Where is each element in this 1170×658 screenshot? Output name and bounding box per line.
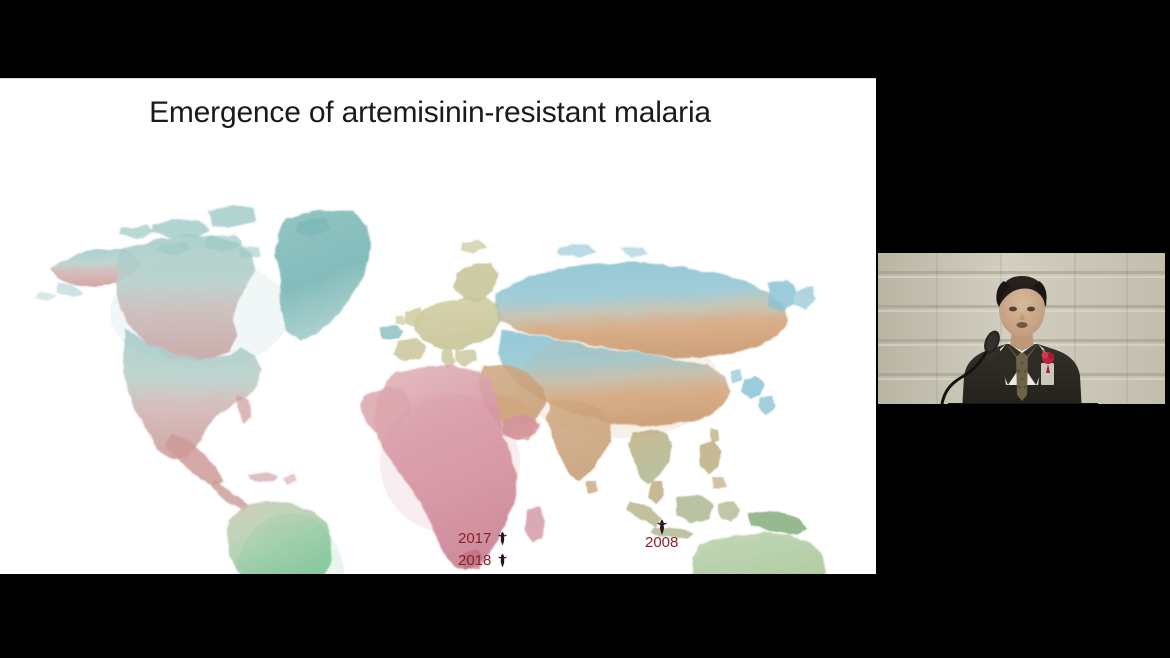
annotation-2017: 2017: [458, 531, 507, 546]
video-letterbox-bottom: [878, 404, 1165, 412]
mosquito-icon: [657, 519, 667, 535]
speaker-video-panel[interactable]: [878, 245, 1165, 412]
world-map-svg: [0, 133, 876, 574]
annotation-2008: 2008: [645, 519, 678, 550]
mosquito-icon: [498, 531, 507, 546]
world-map: 2017 2018 2008: [0, 133, 876, 574]
speaker-video-frame: [878, 245, 1165, 412]
annotation-2018: 2018: [458, 553, 507, 568]
annotation-year-label: 2017: [458, 531, 491, 546]
slide-title: Emergence of artemisinin-resistant malar…: [0, 96, 860, 130]
annotation-year-label: 2008: [645, 535, 678, 550]
video-letterbox-top: [878, 245, 1165, 253]
presentation-slide: Emergence of artemisinin-resistant malar…: [0, 78, 876, 574]
speaker-video-svg: [878, 245, 1165, 412]
mosquito-icon: [498, 553, 507, 568]
screen-capture-frame: Emergence of artemisinin-resistant malar…: [0, 0, 1170, 658]
annotation-year-label: 2018: [458, 553, 491, 568]
slide-top-edge: [0, 78, 876, 79]
